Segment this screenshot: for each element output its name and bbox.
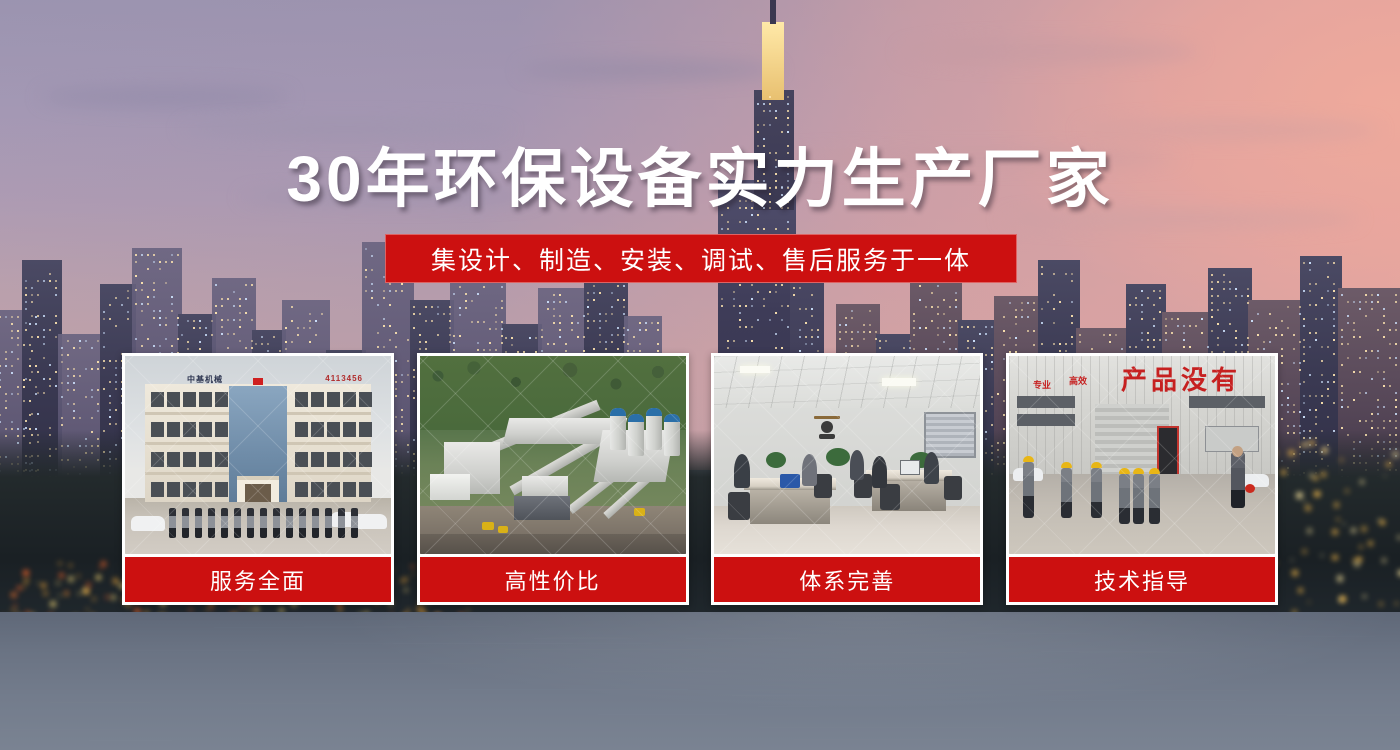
feature-card[interactable]: 中基机械 4113456 服务全面: [122, 353, 394, 605]
card-photo-workers: 产品没有 专业 高效: [1009, 356, 1275, 554]
card-photo-plant: [420, 356, 686, 554]
card-photo-office: [714, 356, 980, 554]
card-photo-headquarters: 中基机械 4113456: [125, 356, 391, 554]
water-sheen: [0, 612, 1400, 750]
page-title: 30年环保设备实力生产厂家: [0, 128, 1400, 220]
wall-decal-icon: [810, 414, 844, 442]
feature-card[interactable]: 高性价比: [417, 353, 689, 605]
feature-card-list: 中基机械 4113456 服务全面: [122, 353, 1278, 605]
building-signage: 中基机械: [187, 374, 223, 385]
card-caption: 技术指导: [1009, 557, 1275, 602]
card-caption: 体系完善: [714, 557, 980, 602]
banner-stage: 30年环保设备实力生产厂家 集设计、制造、安装、调试、售后服务于一体 中基机械 …: [0, 0, 1400, 750]
card-caption: 服务全面: [125, 557, 391, 602]
factory-slogan-right: 高效: [1069, 374, 1087, 387]
factory-slogan-left: 专业: [1033, 378, 1051, 391]
subtitle-text: 集设计、制造、安装、调试、售后服务于一体: [431, 241, 971, 277]
subtitle-banner: 集设计、制造、安装、调试、售后服务于一体: [385, 234, 1017, 283]
feature-card[interactable]: 体系完善: [711, 353, 983, 605]
feature-card[interactable]: 产品没有 专业 高效 技术指导: [1006, 353, 1278, 605]
card-caption: 高性价比: [420, 557, 686, 602]
factory-signage: 产品没有: [1121, 360, 1241, 397]
building-phone: 4113456: [325, 374, 363, 383]
